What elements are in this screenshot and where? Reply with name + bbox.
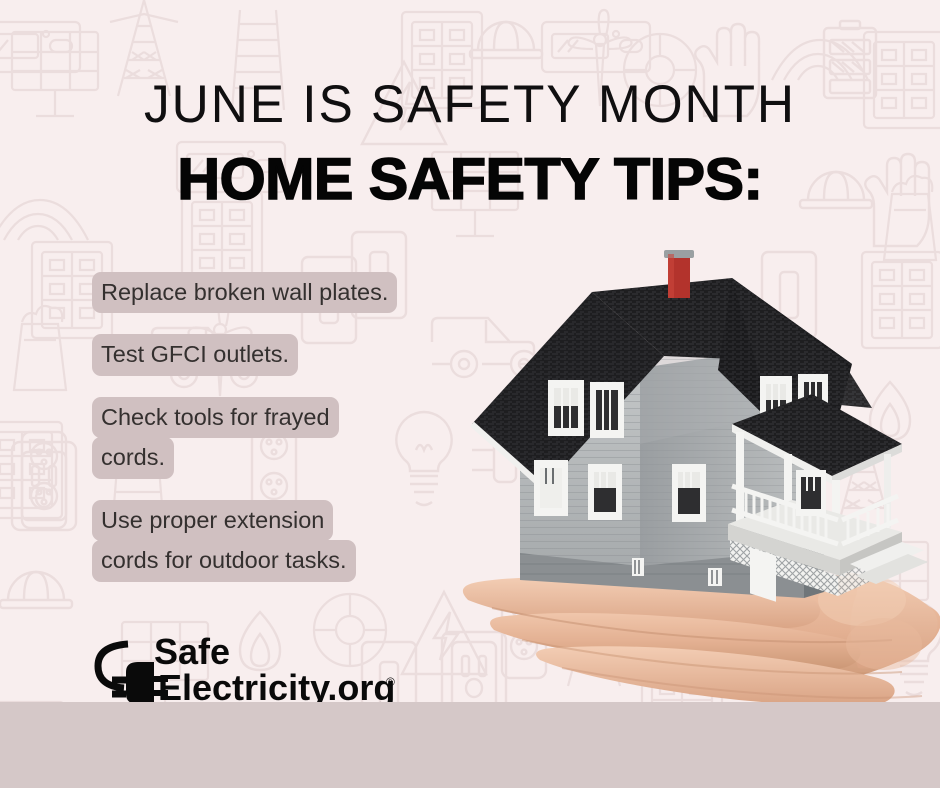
window [588, 464, 622, 520]
tip-line: Test GFCI outlets. [92, 334, 298, 375]
tip-item: Test GFCI outlets. [92, 334, 422, 375]
safety-tips-list: Replace broken wall plates. Test GFCI ou… [92, 272, 422, 603]
plug-cord-icon [98, 644, 128, 694]
window [796, 470, 826, 516]
window [590, 382, 624, 438]
logo-trademark: ® [386, 675, 395, 689]
tip-item: Use proper extension cords for outdoor t… [92, 500, 422, 582]
poster-canvas: JUNE IS SAFETY MONTH HOME SAFETY TIPS: R… [0, 0, 940, 788]
headline-block: JUNE IS SAFETY MONTH HOME SAFETY TIPS: [0, 78, 940, 209]
tip-item: Check tools for frayed cords. [92, 397, 422, 479]
tip-item: Replace broken wall plates. [92, 272, 422, 313]
window [548, 380, 584, 436]
tip-line: Use proper extension [92, 500, 333, 541]
window [534, 460, 568, 516]
logo-word-safe: Safe [154, 631, 230, 672]
bottom-bar [0, 702, 940, 788]
tip-line: cords for outdoor tasks. [92, 540, 356, 581]
headline-line-1: JUNE IS SAFETY MONTH [14, 78, 926, 131]
tip-line: cords. [92, 437, 174, 478]
tip-line: Replace broken wall plates. [92, 272, 397, 313]
plug-body-icon [126, 662, 154, 704]
window [672, 464, 706, 522]
model-house [472, 250, 928, 602]
hand-holding-house-photo [432, 248, 940, 708]
tip-line: Check tools for frayed [92, 397, 339, 438]
safe-electricity-logo[interactable]: Safe Electricity.org ® [92, 628, 412, 708]
headline-line-2: HOME SAFETY TIPS: [0, 151, 940, 209]
